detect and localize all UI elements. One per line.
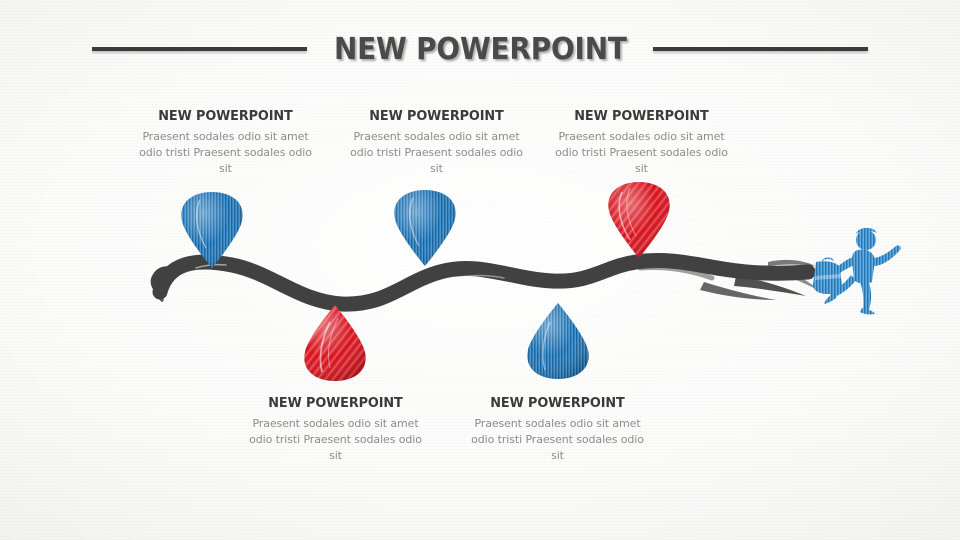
node-body-3: Praesent sodales odio sit amet odio tris… [549,129,734,177]
node-text-block-2[interactable]: NEW POWERPOINT Praesent sodales odio sit… [344,108,529,177]
node-text-block-4[interactable]: NEW POWERPOINT Praesent sodales odio sit… [243,395,428,464]
node-heading-2: NEW POWERPOINT [349,108,525,124]
droplet-pin-marker-4[interactable] [304,305,365,381]
node-body-1: Praesent sodales odio sit amet odio tris… [133,129,318,177]
running-person-with-briefcase-icon [813,228,901,315]
node-heading-4: NEW POWERPOINT [248,395,424,411]
brush-stroke-path [154,260,818,304]
slide-canvas: NEW POWERPOINT [0,0,960,540]
page-title: NEW POWERPOINT [334,32,627,67]
node-text-block-1[interactable]: NEW POWERPOINT Praesent sodales odio sit… [133,108,318,177]
slide-title-bar: NEW POWERPOINT [0,28,960,70]
node-text-block-3[interactable]: NEW POWERPOINT Praesent sodales odio sit… [549,108,734,177]
droplet-pin-marker-5[interactable] [527,303,588,379]
node-heading-5: NEW POWERPOINT [470,395,646,411]
node-text-block-5[interactable]: NEW POWERPOINT Praesent sodales odio sit… [465,395,650,464]
node-body-4: Praesent sodales odio sit amet odio tris… [243,416,428,464]
balloon-pin-marker-3[interactable] [608,182,669,258]
node-heading-1: NEW POWERPOINT [138,108,314,124]
node-body-2: Praesent sodales odio sit amet odio tris… [344,129,529,177]
balloon-pin-marker-1[interactable] [181,192,242,268]
title-rule-left-decoration [92,47,307,51]
node-body-5: Praesent sodales odio sit amet odio tris… [465,416,650,464]
balloon-pin-marker-2[interactable] [394,190,455,266]
node-heading-3: NEW POWERPOINT [554,108,730,124]
title-rule-right-decoration [653,47,868,51]
